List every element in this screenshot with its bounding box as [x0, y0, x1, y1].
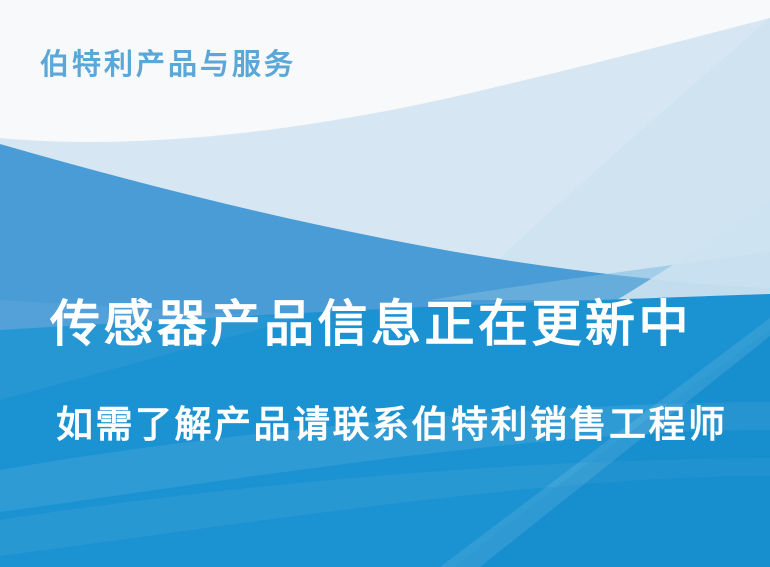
- product-service-banner: 伯特利产品与服务 传感器产品信息正在更新中 如需了解产品请联系伯特利销售工程师: [0, 0, 770, 567]
- brand-heading: 伯特利产品与服务: [40, 48, 296, 83]
- decorative-wave-background: [0, 0, 770, 567]
- page-title: 传感器产品信息正在更新中: [50, 296, 692, 354]
- contact-instruction-text: 如需了解产品请联系伯特利销售工程师: [56, 404, 728, 447]
